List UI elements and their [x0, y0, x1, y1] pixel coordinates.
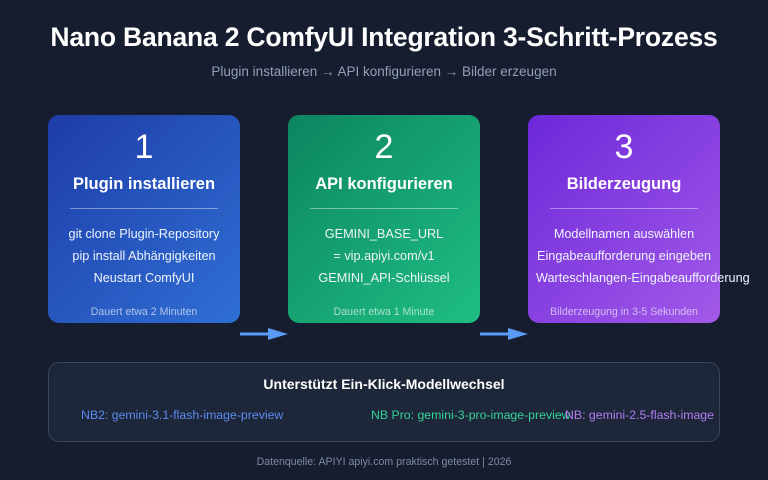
page-subtitle: Plugin installieren → API konfigurieren …	[0, 64, 768, 79]
page-title: Nano Banana 2 ComfyUI Integration 3-Schr…	[0, 22, 768, 53]
step-detail-line: GEMINI_BASE_URL	[296, 224, 472, 246]
step-card-1[interactable]: 1 Plugin installieren git clone Plugin-R…	[48, 115, 240, 323]
step-detail-line: = vip.apiyi.com/v1	[296, 246, 472, 268]
step-duration-note-2: Dauert etwa 1 Minute	[296, 306, 472, 318]
step-duration-note-1: Dauert etwa 2 Minuten	[56, 306, 232, 318]
model-label-nb-pro[interactable]: NB Pro: gemini-3-pro-image-preview	[371, 405, 571, 425]
step-detail-line: pip install Abhängigkeiten	[56, 246, 232, 268]
infographic-canvas: Nano Banana 2 ComfyUI Integration 3-Schr…	[0, 0, 768, 480]
step-detail-list-2: GEMINI_BASE_URL = vip.apiyi.com/v1 GEMIN…	[296, 224, 472, 290]
model-label-nb2[interactable]: NB2: gemini-3.1-flash-image-preview	[81, 405, 283, 425]
step-duration-note-3: Bilderzeugung in 3-5 Sekunden	[536, 306, 712, 318]
step-number-3: 3	[536, 127, 712, 167]
step-detail-list-3: Modellnamen auswählen Eingabeaufforderun…	[536, 224, 712, 290]
panel-title: Unterstützt Ein-Klick-Modellwechsel	[49, 376, 719, 392]
step-detail-line: Warteschlangen-Eingabeaufforderung	[536, 268, 712, 290]
step-detail-line: Eingabeaufforderung eingeben	[536, 246, 712, 268]
step-detail-line: Modellnamen auswählen	[536, 224, 712, 246]
step-card-3[interactable]: 3 Bilderzeugung Modellnamen auswählen Ei…	[528, 115, 720, 323]
step-detail-line: GEMINI_API-Schlüssel	[296, 268, 472, 290]
model-label-nb[interactable]: NB: gemini-2.5-flash-image	[565, 405, 714, 425]
step-title-1: Plugin installieren	[56, 175, 232, 194]
model-list: NB2: gemini-3.1-flash-image-preview NB P…	[49, 405, 719, 425]
step-number-1: 1	[56, 127, 232, 167]
card-divider	[70, 208, 218, 209]
step-number-2: 2	[296, 127, 472, 167]
card-divider	[310, 208, 458, 209]
step-detail-line: Neustart ComfyUI	[56, 268, 232, 290]
step-detail-line: git clone Plugin-Repository	[56, 224, 232, 246]
arrow-right-icon	[240, 327, 288, 339]
card-divider	[550, 208, 698, 209]
step-detail-list-1: git clone Plugin-Repository pip install …	[56, 224, 232, 290]
step-title-3: Bilderzeugung	[536, 175, 712, 194]
step-title-2: API konfigurieren	[296, 175, 472, 194]
arrow-right-icon	[480, 327, 528, 339]
model-switch-panel: Unterstützt Ein-Klick-Modellwechsel NB2:…	[48, 362, 720, 442]
footer-source-note: Datenquelle: APIYI apiyi.com praktisch g…	[0, 456, 768, 468]
step-card-2[interactable]: 2 API konfigurieren GEMINI_BASE_URL = vi…	[288, 115, 480, 323]
header: Nano Banana 2 ComfyUI Integration 3-Schr…	[0, 0, 768, 79]
steps-row: 1 Plugin installieren git clone Plugin-R…	[0, 115, 768, 325]
